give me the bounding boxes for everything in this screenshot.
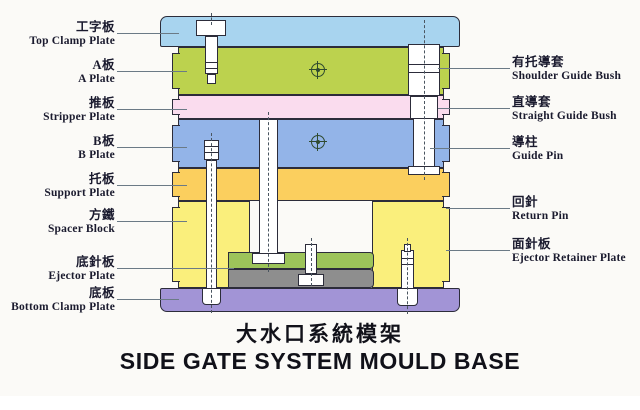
b-plate-chamfer-right: [442, 125, 450, 162]
leader-a-plate: [117, 71, 187, 72]
label-support-plate-en: Support Plate: [44, 187, 115, 199]
label-spacer-block-cn: 方鐵: [48, 209, 115, 223]
label-ejector-plate-cn: 底針板: [48, 256, 115, 270]
leader-ejector-retainer-plate: [446, 250, 510, 251]
label-ejector-retainer-plate-cn: 面針板: [512, 238, 626, 252]
ejector-pin-axis: [211, 133, 212, 313]
label-a-plate: A板 A Plate: [78, 59, 115, 85]
stripper-plate: [178, 95, 444, 119]
a-plate-chamfer-right: [442, 53, 450, 89]
leader-return-pin: [446, 208, 510, 209]
label-shoulder-guide-bush: 有托導套 Shoulder Guide Bush: [512, 56, 621, 82]
leader-top-clamp-plate: [117, 33, 179, 34]
cap-screw-axis: [211, 13, 212, 25]
label-a-plate-cn: A板: [78, 59, 115, 73]
stripper-plate-chamfer: [172, 99, 180, 115]
leader-straight-guide-bush: [438, 108, 510, 109]
label-bottom-clamp-plate: 底板 Bottom Clamp Plate: [11, 287, 115, 313]
label-ejector-plate: 底針板 Ejector Plate: [48, 256, 115, 282]
diagram-canvas: 工字板 Top Clamp Plate A板 A Plate 推板 Stripp…: [0, 0, 640, 396]
cap-screw-thread-2: [205, 68, 218, 69]
leader-bottom-clamp-plate: [117, 299, 179, 300]
label-bottom-clamp-plate-en: Bottom Clamp Plate: [11, 301, 115, 313]
target-crosshair-icon-2: [309, 133, 327, 151]
label-stripper-plate: 推板 Stripper Plate: [43, 97, 115, 123]
label-ejector-retainer-plate: 面針板 Ejector Retainer Plate: [512, 238, 626, 264]
guide-pin-axis: [424, 20, 425, 180]
support-plate-chamfer-right: [442, 172, 450, 197]
label-stripper-plate-cn: 推板: [43, 97, 115, 111]
diagram-title-cn: 大水口系統模架: [0, 318, 640, 348]
stripper-plate-chamfer-right: [442, 99, 450, 115]
leader-stripper-plate: [117, 109, 187, 110]
label-b-plate-cn: B板: [78, 135, 115, 149]
label-guide-pin-en: Guide Pin: [512, 150, 563, 162]
cap-screw-thread-1: [205, 62, 218, 63]
label-stripper-plate-en: Stripper Plate: [43, 111, 115, 123]
centre-sleeve-axis: [268, 112, 269, 272]
b-plate-chamfer: [172, 125, 180, 162]
diagram-title: 大水口系統模架 SIDE GATE SYSTEM MOULD BASE: [0, 318, 640, 375]
target-crosshair-icon: [309, 61, 327, 79]
leader-b-plate: [117, 147, 187, 148]
label-shoulder-guide-bush-cn: 有托導套: [512, 56, 621, 70]
label-support-plate: 托板 Support Plate: [44, 173, 115, 199]
label-guide-pin: 導柱 Guide Pin: [512, 136, 563, 162]
leader-guide-pin: [430, 148, 510, 149]
label-return-pin: 回針 Return Pin: [512, 196, 569, 222]
leader-support-plate: [117, 185, 187, 186]
spacer-block-chamfer-left: [172, 207, 180, 282]
ejector-retainer-plate: [228, 252, 374, 269]
leader-ejector-plate: [117, 268, 234, 269]
label-ejector-retainer-plate-en: Ejector Retainer Plate: [512, 252, 626, 264]
label-support-plate-cn: 托板: [44, 173, 115, 187]
label-spacer-block-en: Spacer Block: [48, 223, 115, 235]
label-top-clamp-plate-cn: 工字板: [29, 21, 115, 35]
label-straight-guide-bush-en: Straight Guide Bush: [512, 110, 617, 122]
return-pin-axis: [407, 238, 408, 314]
diagram-root: 工字板 Top Clamp Plate A板 A Plate 推板 Stripp…: [0, 0, 640, 410]
support-plate: [178, 168, 444, 201]
label-bottom-clamp-plate-cn: 底板: [11, 287, 115, 301]
label-b-plate-en: B Plate: [78, 149, 115, 161]
label-top-clamp-plate-en: Top Clamp Plate: [29, 35, 115, 47]
label-b-plate: B板 B Plate: [78, 135, 115, 161]
leader-shoulder-guide-bush: [438, 68, 510, 69]
label-straight-guide-bush: 直導套 Straight Guide Bush: [512, 96, 617, 122]
leader-spacer-block: [117, 221, 187, 222]
label-ejector-plate-en: Ejector Plate: [48, 270, 115, 282]
label-straight-guide-bush-cn: 直導套: [512, 96, 617, 110]
label-return-pin-cn: 回針: [512, 196, 569, 210]
label-a-plate-en: A Plate: [78, 73, 115, 85]
spacer-block-chamfer-right: [442, 207, 450, 282]
label-return-pin-en: Return Pin: [512, 210, 569, 222]
label-shoulder-guide-bush-en: Shoulder Guide Bush: [512, 70, 621, 82]
cap-screw-tip: [207, 74, 216, 84]
label-top-clamp-plate: 工字板 Top Clamp Plate: [29, 21, 115, 47]
ejector-screw-axis: [311, 238, 312, 286]
diagram-title-en: SIDE GATE SYSTEM MOULD BASE: [0, 348, 640, 375]
label-spacer-block: 方鐵 Spacer Block: [48, 209, 115, 235]
label-guide-pin-cn: 導柱: [512, 136, 563, 150]
